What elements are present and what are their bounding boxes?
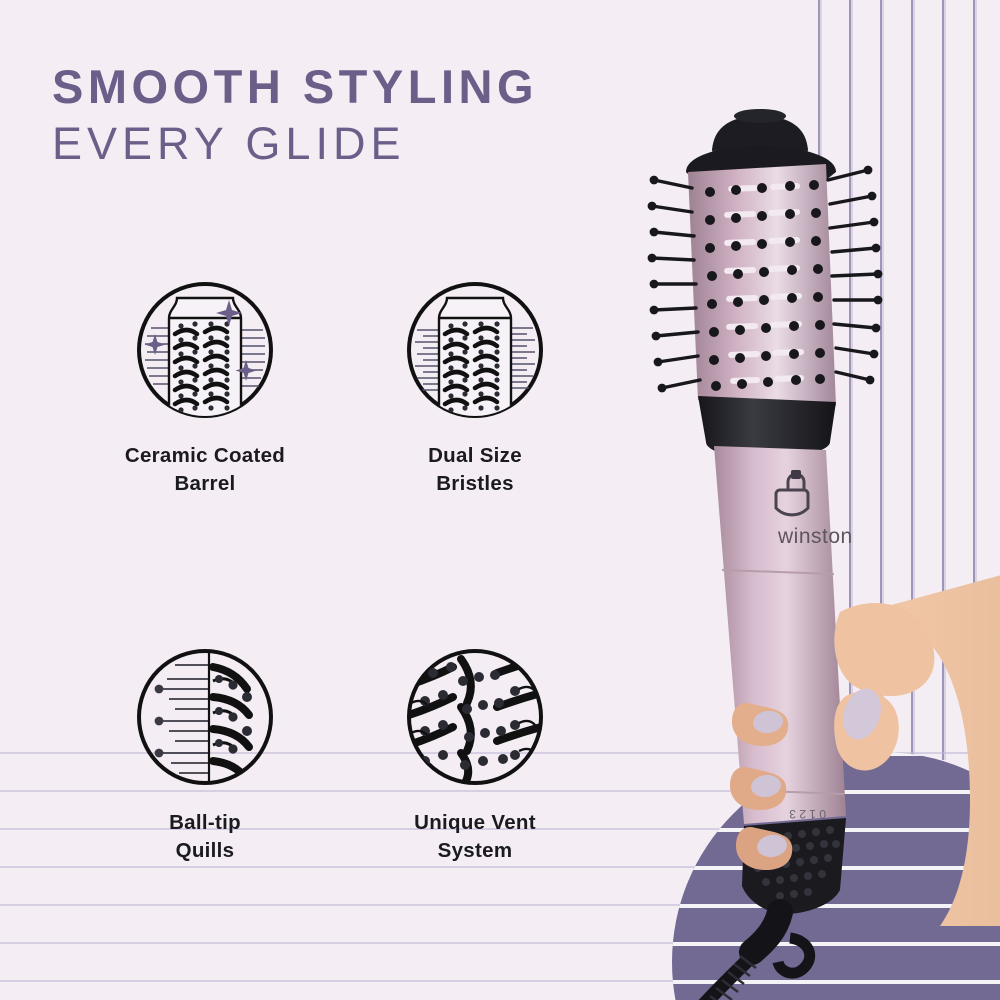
headline-block: SMOOTH STYLING EVERY GLIDE (52, 62, 692, 171)
svg-text:0 1 2 3: 0 1 2 3 (789, 807, 826, 821)
product-image: winston 0 1 2 3 (640, 100, 1000, 1000)
feature-grid: Ceramic Coated Barrel (60, 278, 620, 865)
feature-item-ball-tip-quills: Ball-tip Quills (60, 645, 350, 864)
fingers (730, 703, 792, 870)
feature-item-dual-size-bristles: Dual Size Bristles (350, 278, 600, 497)
brush-barrel (648, 164, 883, 406)
feature-label: Ball-tip Quills (169, 809, 241, 864)
feature-label: Unique Vent System (414, 809, 536, 864)
power-cord (650, 912, 810, 1000)
ball-tip-quills-icon (133, 645, 277, 789)
ceramic-barrel-icon (133, 278, 277, 422)
headline-line-2: EVERY GLIDE (52, 117, 692, 171)
marketing-image: SMOOTH STYLING EVERY GLIDE (0, 0, 1000, 1000)
feature-label: Dual Size Bristles (428, 442, 522, 497)
brand-name: winston (777, 525, 853, 548)
feature-item-unique-vent-system: Unique Vent System (350, 645, 600, 864)
feature-row-1: Ceramic Coated Barrel (60, 278, 620, 497)
feature-item-ceramic-coated-barrel: Ceramic Coated Barrel (60, 278, 350, 497)
dual-bristles-icon (403, 278, 547, 422)
headline-line-1: SMOOTH STYLING (52, 62, 692, 111)
feature-row-2: Ball-tip Quills (60, 645, 620, 864)
control-markings: 0 1 2 3 (789, 807, 826, 821)
feature-label: Ceramic Coated Barrel (125, 442, 285, 497)
vent-system-icon (403, 645, 547, 789)
